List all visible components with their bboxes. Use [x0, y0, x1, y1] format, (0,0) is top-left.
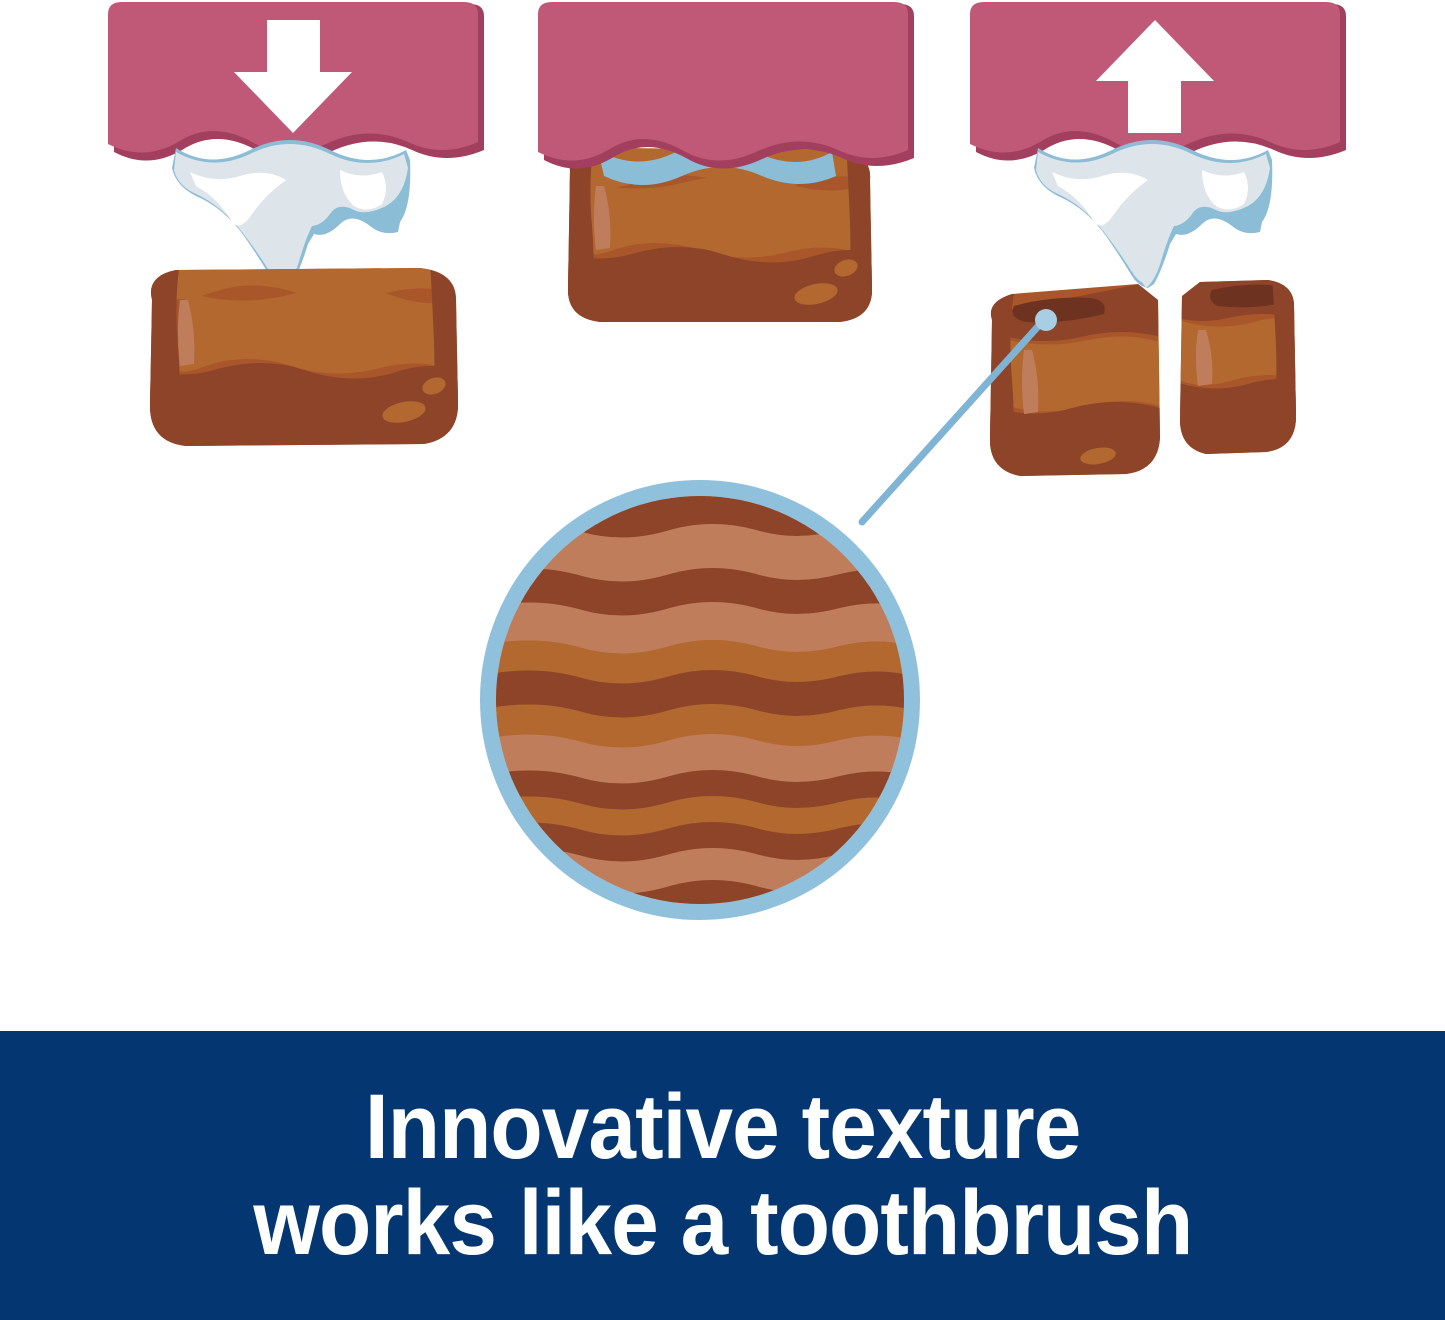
gum-block: [538, 2, 914, 169]
kibble-bottom-dark: [990, 402, 1160, 484]
illustration-area: [0, 0, 1445, 1031]
panel-lift-up: [862, 2, 1346, 522]
broken-kibble-right: [1176, 278, 1304, 460]
panel-press-down: [108, 2, 484, 456]
tooth: [172, 140, 410, 288]
banner-line-2: works like a toothbrush: [253, 1176, 1192, 1272]
kibble-mid: [174, 287, 450, 373]
caption-banner: Innovative texture works like a toothbru…: [0, 1031, 1445, 1320]
kibble-left-shadow: [986, 292, 1014, 482]
infographic-page: Innovative texture works like a toothbru…: [0, 0, 1445, 1320]
texture-magnifier: [480, 488, 920, 916]
gum-body: [538, 2, 908, 161]
tooth: [1034, 140, 1272, 288]
panel-contact: [538, 2, 914, 336]
kibble-left-shadow: [142, 262, 180, 452]
whole-kibble: [140, 258, 470, 456]
illustration-svg: [0, 0, 1445, 1031]
pointer-dot: [1035, 309, 1057, 331]
kibble-left-shadow: [556, 142, 594, 332]
broken-kibble-left: [986, 284, 1160, 484]
banner-line-1: Innovative texture: [365, 1080, 1081, 1176]
